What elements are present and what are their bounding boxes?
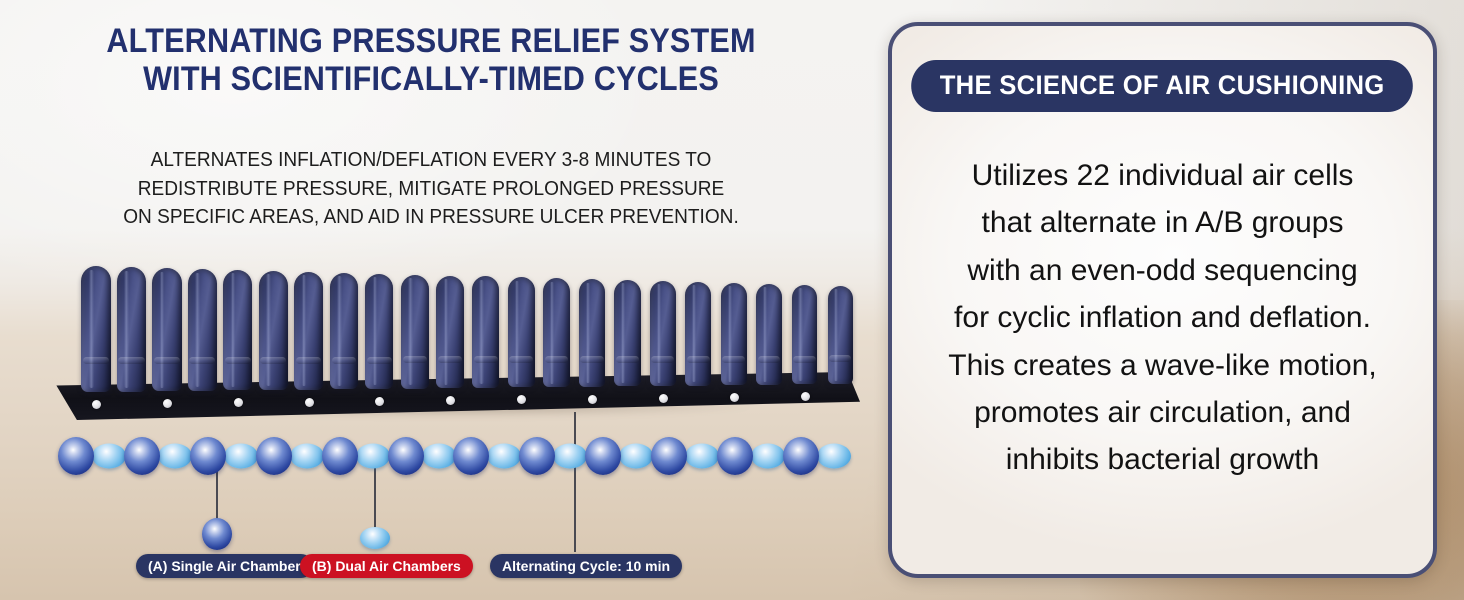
- left-content-column: ALTERNATING PRESSURE RELIEF SYSTEM WITH …: [0, 0, 880, 600]
- sample-deflated-cell: [360, 527, 390, 549]
- inflated-air-cell: [124, 437, 160, 475]
- mattress-air-cell: [117, 267, 147, 392]
- mattress-air-cell: [685, 282, 711, 385]
- mattress-air-cell: [294, 272, 323, 390]
- subcopy-line-1: ALTERNATES INFLATION/DEFLATION EVERY 3-8…: [30, 146, 832, 175]
- mattress-air-cell: [508, 277, 535, 387]
- deflated-air-cell: [158, 444, 192, 469]
- deflated-air-cell: [685, 444, 719, 469]
- panel-body-line-1: Utilizes 22 individual air cells: [914, 152, 1411, 199]
- deflated-air-cell: [751, 444, 785, 469]
- mattress-air-cell: [330, 273, 358, 390]
- inflated-air-cell: [519, 437, 555, 475]
- mattress-grommet: [92, 400, 101, 409]
- panel-body-line-3: with an even-odd sequencing: [914, 247, 1411, 294]
- mattress-air-cell: [365, 274, 393, 389]
- mattress-air-cell: [756, 284, 781, 385]
- leader-line-alternating-cycle: [574, 412, 576, 552]
- sample-inflated-cell: [202, 518, 232, 550]
- page-title: ALTERNATING PRESSURE RELIEF SYSTEM WITH …: [43, 22, 819, 98]
- inflated-air-cell: [256, 437, 292, 475]
- deflated-air-cell: [487, 444, 521, 469]
- deflated-air-cell: [224, 444, 258, 469]
- panel-body-text: Utilizes 22 individual air cells that al…: [914, 152, 1411, 484]
- mattress-air-cell: [188, 269, 217, 391]
- inflated-air-cell: [585, 437, 621, 475]
- mattress-air-cell: [579, 279, 606, 386]
- mattress-air-cell: [650, 281, 676, 386]
- mattress-air-cell: [259, 271, 288, 390]
- panel-body-line-4: for cyclic inflation and deflation.: [914, 294, 1411, 341]
- mattress-grommet: [588, 395, 597, 404]
- leader-line-dual-chamber: [374, 466, 376, 528]
- mattress-air-cell: [81, 266, 111, 392]
- deflated-air-cell: [422, 444, 456, 469]
- legend-badge-single-air-chamber[interactable]: (A) Single Air Chamber: [136, 554, 313, 578]
- legend-badge-alternating-cycle[interactable]: Alternating Cycle: 10 min: [490, 554, 682, 578]
- deflated-air-cell: [619, 444, 653, 469]
- inflated-air-cell: [783, 437, 819, 475]
- mattress-air-cell: [543, 278, 570, 387]
- mattress-grommet: [730, 393, 739, 402]
- inflated-air-cell: [322, 437, 358, 475]
- mattress-grommet: [659, 394, 668, 403]
- infographic-canvas: ALTERNATING PRESSURE RELIEF SYSTEM WITH …: [0, 0, 1464, 600]
- mattress-air-cell: [152, 268, 182, 391]
- mattress-air-cell: [721, 283, 747, 385]
- inflated-air-cell: [651, 437, 687, 475]
- alternating-cell-diagram: [60, 432, 850, 480]
- headline-line-2: WITH SCIENTIFICALLY-TIMED CYCLES: [43, 60, 819, 98]
- mattress-grommet: [801, 392, 810, 401]
- panel-title: THE SCIENCE OF AIR CUSHIONING: [912, 60, 1414, 112]
- subcopy-line-2: REDISTRIBUTE PRESSURE, MITIGATE PROLONGE…: [30, 175, 832, 204]
- subcopy-line-3: ON SPECIFIC AREAS, AND AID IN PRESSURE U…: [30, 203, 832, 232]
- inflated-air-cell: [453, 437, 489, 475]
- mattress-air-cell: [828, 286, 853, 384]
- panel-title-wrapper: THE SCIENCE OF AIR CUSHIONING: [892, 60, 1433, 112]
- mattress-air-cell: [792, 285, 817, 384]
- inflated-air-cell: [190, 437, 226, 475]
- subtitle-description: ALTERNATES INFLATION/DEFLATION EVERY 3-8…: [30, 146, 832, 232]
- air-mattress-image: [40, 252, 860, 420]
- panel-body-line-5: This creates a wave-like motion,: [914, 342, 1411, 389]
- mattress-air-cell: [614, 280, 640, 386]
- deflated-air-cell: [553, 444, 587, 469]
- deflated-air-cell: [356, 444, 390, 469]
- deflated-air-cell: [92, 444, 126, 469]
- deflated-air-cell: [290, 444, 324, 469]
- science-info-panel: THE SCIENCE OF AIR CUSHIONING Utilizes 2…: [888, 22, 1437, 578]
- deflated-air-cell: [817, 444, 851, 469]
- mattress-grommet: [305, 398, 314, 407]
- leader-line-single-chamber: [216, 470, 218, 520]
- panel-body-line-6: promotes air circulation, and: [914, 389, 1411, 436]
- panel-body-line-7: inhibits bacterial growth: [914, 436, 1411, 483]
- inflated-air-cell: [717, 437, 753, 475]
- legend-badge-dual-air-chambers[interactable]: (B) Dual Air Chambers: [300, 554, 473, 578]
- mattress-air-cell: [472, 276, 499, 387]
- panel-body-line-2: that alternate in A/B groups: [914, 199, 1411, 246]
- mattress-air-cell: [401, 275, 429, 389]
- inflated-air-cell: [58, 437, 94, 475]
- mattress-air-cell: [223, 270, 252, 391]
- inflated-air-cell: [388, 437, 424, 475]
- headline-line-1: ALTERNATING PRESSURE RELIEF SYSTEM: [43, 22, 819, 60]
- mattress-air-cell: [436, 276, 464, 389]
